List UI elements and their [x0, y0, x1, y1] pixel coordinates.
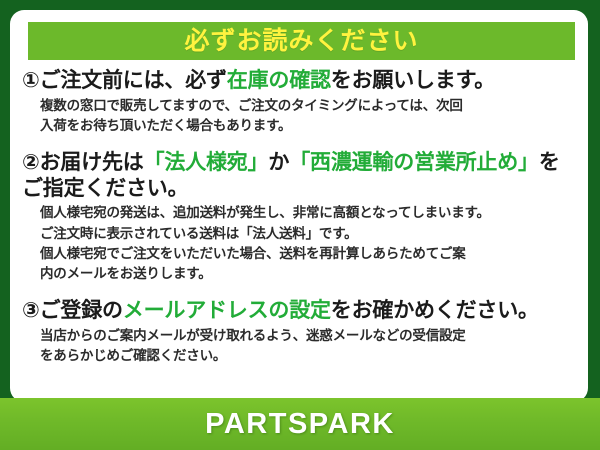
item-3-heading-part-3: をお確かめください。	[331, 299, 539, 322]
item-2-body-line-1: 個人様宅宛の発送は、追加送料が発生し、非常に高額となってしまいます。	[40, 203, 578, 223]
item-2-body-line-4: 内のメールをお送りします。	[40, 264, 578, 284]
item-2-body: 個人様宅宛の発送は、追加送料が発生し、非常に高額となってしまいます。 ご注文時に…	[22, 203, 578, 284]
item-1-marker: ①	[22, 69, 40, 92]
item-2-heading-highlight-1: 「法人様宛」	[144, 151, 269, 174]
item-2-heading-part-3: か	[268, 151, 289, 174]
footer-bar: PARTSPARK	[0, 398, 600, 450]
item-3-body-line-2: をあらかじめご確認ください。	[40, 346, 578, 366]
item-3-marker: ③	[22, 299, 40, 322]
item-2-body-line-3: 個人様宅宛でご注文をいただいた場合、送料を再計算しあらためてご案	[40, 244, 578, 264]
item-1-heading-part-1: ご注文前には、必ず	[40, 69, 227, 92]
item-1-heading-highlight: 在庫の確認	[227, 69, 331, 92]
item-2-marker: ②	[22, 151, 40, 174]
banner-title: 必ずお読みください	[184, 29, 418, 54]
item-3-body: 当店からのご案内メールが受け取れるよう、迷惑メールなどの受信設定 をあらかじめご…	[22, 326, 578, 367]
notice-item-2: ②お届け先は「法人様宛」か「西濃運輸の営業所止め」をご指定ください。 個人様宅宛…	[22, 150, 578, 284]
item-3-heading: ③ご登録のメールアドレスの設定をお確かめください。	[22, 298, 578, 324]
notice-card: 必ずお読みください ①ご注文前には、必ず在庫の確認をお願いします。 複数の窓口で…	[0, 0, 600, 450]
notice-item-1: ①ご注文前には、必ず在庫の確認をお願いします。 複数の窓口で販売してますので、ご…	[22, 68, 578, 136]
notice-item-3: ③ご登録のメールアドレスの設定をお確かめください。 当店からのご案内メールが受け…	[22, 298, 578, 366]
item-2-body-line-2: ご注文時に表示されている送料は「法人送料」です。	[40, 224, 578, 244]
notice-content: ①ご注文前には、必ず在庫の確認をお願いします。 複数の窓口で販売してますので、ご…	[10, 66, 588, 368]
item-1-body-line-1: 複数の窓口で販売してますので、ご注文のタイミングによっては、次回	[40, 96, 578, 116]
item-1-heading: ①ご注文前には、必ず在庫の確認をお願いします。	[22, 68, 578, 94]
item-2-heading-highlight-2: 「西濃運輸の営業所止め」	[289, 151, 539, 174]
title-banner: 必ずお読みください	[28, 22, 575, 60]
white-panel: 必ずお読みください ①ご注文前には、必ず在庫の確認をお願いします。 複数の窓口で…	[10, 10, 588, 402]
item-2-heading-part-1: お届け先は	[40, 151, 144, 174]
item-1-heading-part-3: をお願いします。	[331, 69, 495, 92]
item-1-body-line-2: 入荷をお待ち頂いただく場合もあります。	[40, 116, 578, 136]
item-3-body-line-1: 当店からのご案内メールが受け取れるよう、迷惑メールなどの受信設定	[40, 326, 578, 346]
item-3-heading-part-1: ご登録の	[40, 299, 123, 322]
brand-name: PARTSPARK	[205, 408, 395, 441]
item-2-heading: ②お届け先は「法人様宛」か「西濃運輸の営業所止め」をご指定ください。	[22, 150, 578, 201]
item-3-heading-highlight: メールアドレスの設定	[123, 299, 331, 322]
item-1-body: 複数の窓口で販売してますので、ご注文のタイミングによっては、次回 入荷をお待ち頂…	[22, 96, 578, 137]
